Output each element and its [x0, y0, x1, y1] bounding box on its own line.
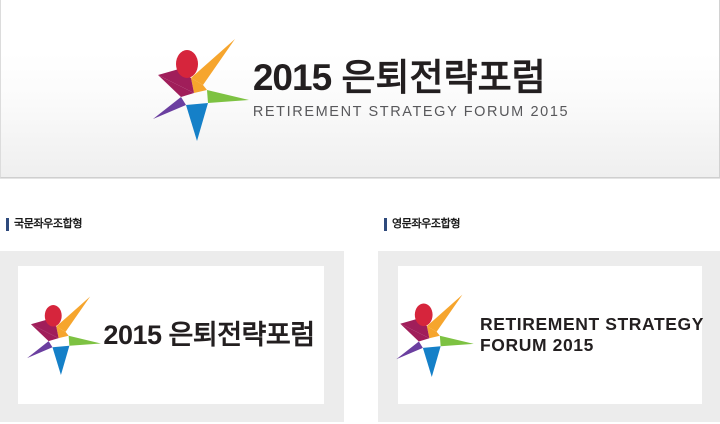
hero-wordmark: 2015 은퇴전략포럼 RETIREMENT STRATEGY FORUM 20… — [253, 59, 569, 120]
label-accent-bar — [384, 218, 387, 231]
english-logo-panel: RETIREMENT STRATEGY FORUM 2015 — [378, 251, 720, 422]
ci-guideline-page: 2015 은퇴전략포럼 RETIREMENT STRATEGY FORUM 20… — [0, 0, 720, 424]
english-logo-canvas: RETIREMENT STRATEGY FORUM 2015 — [398, 266, 702, 404]
korean-logo-title-year: 2015 — [103, 320, 161, 350]
hero-korean-title: 2015 은퇴전략포럼 — [253, 59, 569, 96]
hero-logo-lockup: 2015 은퇴전략포럼 RETIREMENT STRATEGY FORUM 20… — [153, 37, 569, 141]
korean-logo-title: 2015 은퇴전략포럼 — [103, 322, 314, 349]
forum-star-mark-icon — [396, 293, 474, 377]
section-english-label: 영문좌우조합형 — [384, 216, 720, 232]
forum-star-mark-icon — [27, 295, 101, 375]
hero-logo-container: 2015 은퇴전략포럼 RETIREMENT STRATEGY FORUM 20… — [1, 0, 720, 178]
section-korean-horizontal: 국문좌우조합형 — [0, 178, 344, 422]
english-logo-content: RETIREMENT STRATEGY FORUM 2015 — [398, 266, 702, 404]
hero-english-tagline: RETIREMENT STRATEGY FORUM 2015 — [253, 105, 569, 120]
section-korean-label: 국문좌우조합형 — [6, 216, 344, 232]
english-logo-title-line2: FORUM 2015 — [480, 335, 704, 356]
forum-star-mark-icon — [153, 37, 249, 141]
hero-panel: 2015 은퇴전략포럼 RETIREMENT STRATEGY FORUM 20… — [0, 0, 720, 178]
korean-logo-title-name: 은퇴전략포럼 — [169, 320, 315, 350]
section-english-horizontal: 영문좌우조합형 — [378, 178, 720, 422]
korean-wordmark: 2015 은퇴전략포럼 — [103, 322, 314, 349]
english-wordmark: RETIREMENT STRATEGY FORUM 2015 — [480, 314, 704, 355]
section-english-label-text: 영문좌우조합형 — [392, 219, 460, 230]
section-korean-label-text: 국문좌우조합형 — [14, 219, 82, 230]
english-logo-lockup: RETIREMENT STRATEGY FORUM 2015 — [396, 293, 704, 377]
korean-logo-canvas: 2015 은퇴전략포럼 — [18, 266, 324, 404]
hero-korean-title-year: 2015 — [253, 57, 331, 98]
variations-area: 국문좌우조합형 — [0, 178, 720, 424]
english-logo-title-line1: RETIREMENT STRATEGY — [480, 314, 704, 335]
label-accent-bar — [6, 218, 9, 231]
korean-logo-panel: 2015 은퇴전략포럼 — [0, 251, 344, 422]
korean-logo-content: 2015 은퇴전략포럼 — [18, 266, 324, 404]
korean-logo-lockup: 2015 은퇴전략포럼 — [27, 295, 314, 375]
hero-korean-title-name: 은퇴전략포럼 — [341, 57, 545, 98]
